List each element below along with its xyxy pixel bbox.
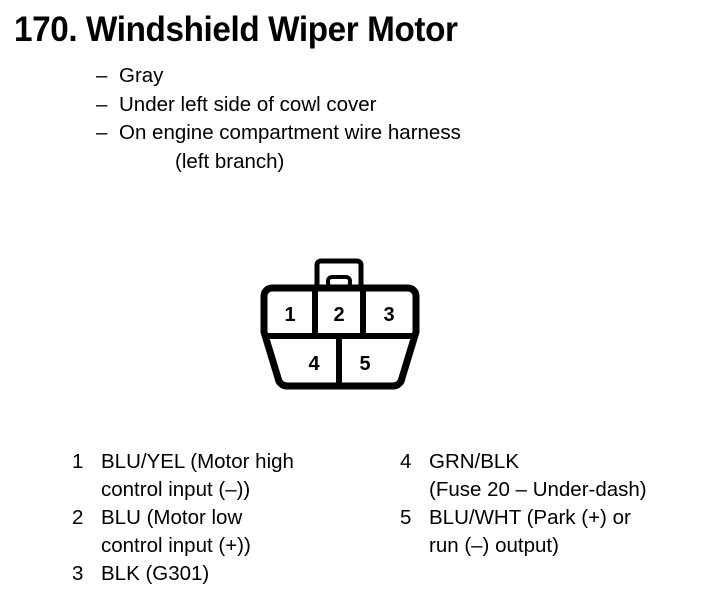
legend-item-3: 3 BLK (G301)	[72, 560, 294, 588]
legend-item-line2: run (–) output)	[429, 532, 647, 560]
legend-item-2: 2 BLU (Motor low control input (+))	[72, 504, 294, 559]
cavity-number-1: 1	[284, 304, 295, 326]
legend-item-line1: BLU (Motor low	[101, 504, 294, 532]
description-item-continuation: (left branch)	[119, 148, 461, 177]
description-list: – Gray – Under left side of cowl cover –…	[96, 62, 461, 176]
cavity-number-4: 4	[308, 353, 320, 375]
description-item-label: Under left side of cowl cover	[119, 93, 377, 116]
bullet-dash-icon: –	[96, 62, 107, 91]
legend-item-line1: BLU/WHT (Park (+) or	[429, 504, 647, 532]
legend-item-line2: control input (+))	[101, 532, 294, 560]
description-item-label: Gray	[119, 64, 163, 87]
description-item-harness: – On engine compartment wire harness (le…	[96, 119, 461, 176]
legend-item-number: 4	[400, 448, 411, 476]
legend-item-1: 1 BLU/YEL (Motor high control input (–))	[72, 448, 294, 503]
cavity-number-2: 2	[333, 304, 344, 326]
bullet-dash-icon: –	[96, 119, 107, 148]
legend-right-column: 4 GRN/BLK (Fuse 20 – Under-dash) 5 BLU/W…	[400, 448, 647, 560]
description-item-location: – Under left side of cowl cover	[96, 91, 461, 120]
cavity-number-5: 5	[359, 353, 370, 375]
legend-item-number: 1	[72, 448, 83, 476]
legend-item-line2: control input (–))	[101, 476, 294, 504]
legend-item-4: 4 GRN/BLK (Fuse 20 – Under-dash)	[400, 448, 647, 503]
legend-item-number: 2	[72, 504, 83, 532]
legend-item-line1: GRN/BLK	[429, 448, 647, 476]
page-title: 170. Windshield Wiper Motor	[14, 10, 458, 50]
legend-left-column: 1 BLU/YEL (Motor high control input (–))…	[72, 448, 294, 589]
cavity-number-3: 3	[383, 304, 394, 326]
legend-item-line2: (Fuse 20 – Under-dash)	[429, 476, 647, 504]
legend-item-line1: BLK (G301)	[101, 560, 294, 588]
legend-item-number: 3	[72, 560, 83, 588]
bullet-dash-icon: –	[96, 91, 107, 120]
connector-diagram: 1 2 3 4 5	[252, 252, 448, 400]
legend-item-5: 5 BLU/WHT (Park (+) or run (–) output)	[400, 504, 647, 559]
description-item-label: On engine compartment wire harness	[119, 121, 461, 144]
legend-item-line1: BLU/YEL (Motor high	[101, 448, 294, 476]
legend-item-number: 5	[400, 504, 411, 532]
description-item-color: – Gray	[96, 62, 461, 91]
